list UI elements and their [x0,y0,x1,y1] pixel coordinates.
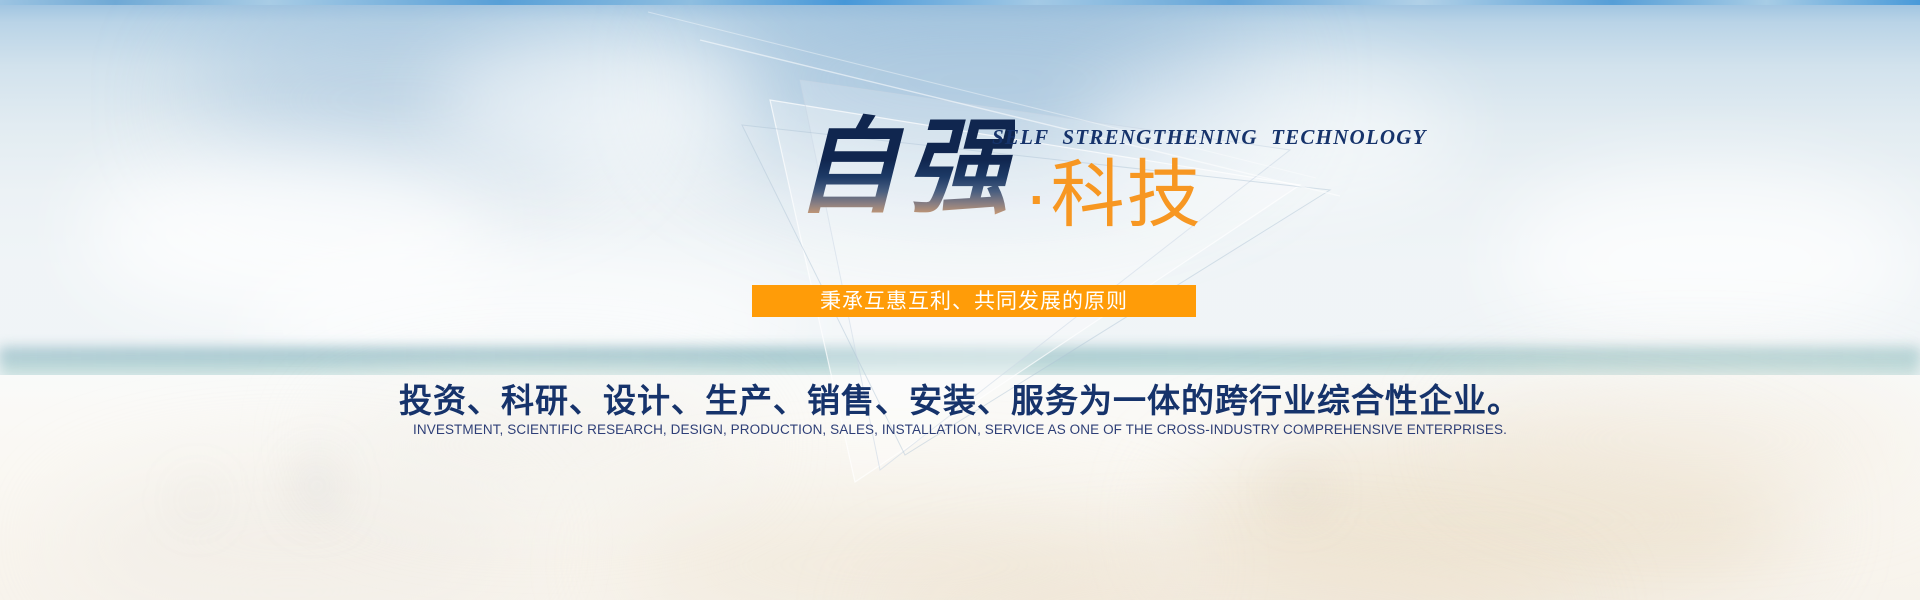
slogan-badge: 秉承互惠互利、共同发展的原则 [752,285,1196,317]
banner-content: 自强 SELF STRENGTHENING TECHNOLOGY ·科技 秉承互… [0,0,1920,600]
logo-lockup: 自强 SELF STRENGTHENING TECHNOLOGY ·科技 [0,108,1920,238]
hero-banner: 自强 SELF STRENGTHENING TECHNOLOGY ·科技 秉承互… [0,0,1920,600]
slogan-badge-label: 秉承互惠互利、共同发展的原则 [820,291,1128,312]
subheadline-text: INVESTMENT, SCIENTIFIC RESEARCH, DESIGN,… [0,422,1920,437]
brand-name-calligraphy: 自强 [795,108,1015,231]
brand-name-secondary: ·科技 [1024,158,1203,232]
headline-text: 投资、科研、设计、生产、销售、安装、服务为一体的跨行业综合性企业。 [0,374,1920,422]
brand-tagline-english: SELF STRENGTHENING TECHNOLOGY [992,125,1427,150]
